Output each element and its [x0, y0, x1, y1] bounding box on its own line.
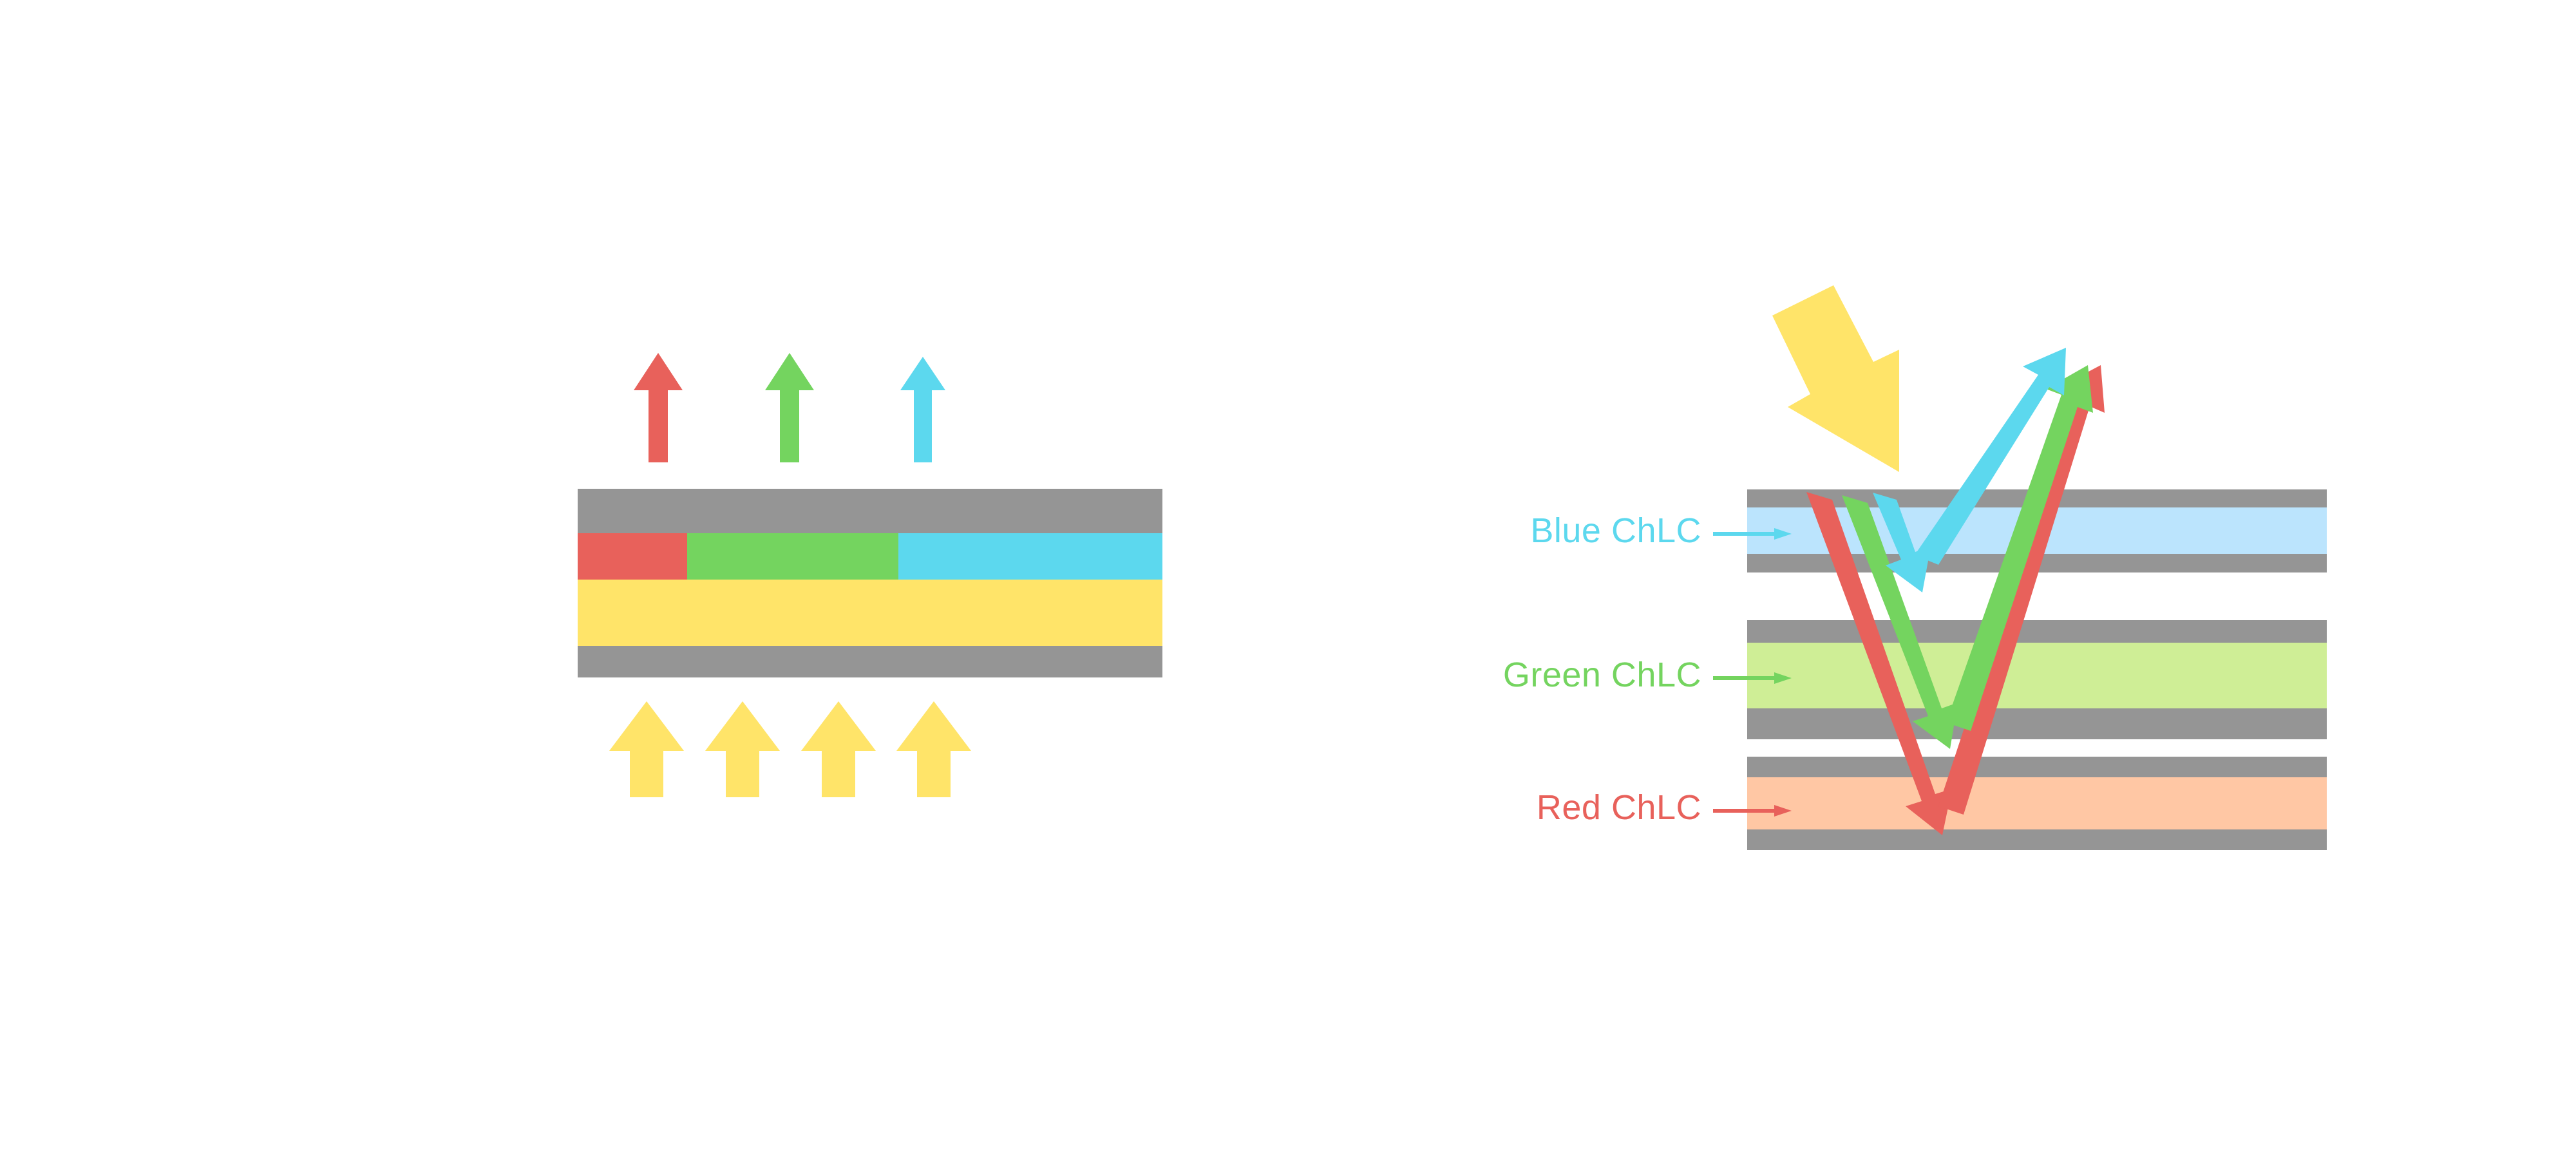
red-chlc-layer [1747, 777, 2327, 829]
green-cell-top-electrode [1747, 620, 2327, 643]
red-chlc-cell [1747, 757, 2327, 850]
green-emitted-arrow [765, 353, 814, 462]
green-chlc-layer [1747, 643, 2327, 708]
red-emitted-arrow [634, 353, 683, 462]
green-cell-bottom-electrode [1747, 708, 2327, 739]
left-panel [578, 353, 1162, 797]
left-backlight-arrows [609, 701, 971, 797]
backlight-arrow-4 [896, 701, 971, 797]
blue-chlc-label: Blue ChLC [1530, 511, 1701, 550]
red-filter [578, 533, 687, 580]
right-panel: Blue ChLC Green ChLC Red ChLC [1503, 285, 2327, 850]
green-filter [687, 533, 898, 580]
red-chlc-label: Red ChLC [1537, 788, 1701, 827]
ambient-light-arrow [1772, 285, 1899, 472]
figure-root: Blue ChLC Green ChLC Red ChLC [0, 0, 2576, 1154]
bottom-electrode [578, 646, 1162, 677]
red-reflected-ray [1938, 365, 2105, 815]
top-electrode [578, 489, 1162, 533]
backlight-arrow-1 [609, 701, 684, 797]
color-filter-row [578, 533, 1162, 580]
red-cell-bottom-electrode [1747, 829, 2327, 850]
backlight-arrow-2 [705, 701, 780, 797]
red-cell-top-electrode [1747, 757, 2327, 777]
left-stack [578, 489, 1162, 677]
green-chlc-label: Green ChLC [1503, 656, 1701, 694]
blue-filter [898, 533, 1162, 580]
backlight-layer [578, 580, 1162, 646]
cyan-emitted-arrow [900, 357, 945, 462]
left-emitted-arrows [634, 353, 945, 462]
green-chlc-cell [1747, 620, 2327, 739]
backlight-arrow-3 [801, 701, 876, 797]
diagram-canvas: Blue ChLC Green ChLC Red ChLC [0, 0, 2576, 1154]
